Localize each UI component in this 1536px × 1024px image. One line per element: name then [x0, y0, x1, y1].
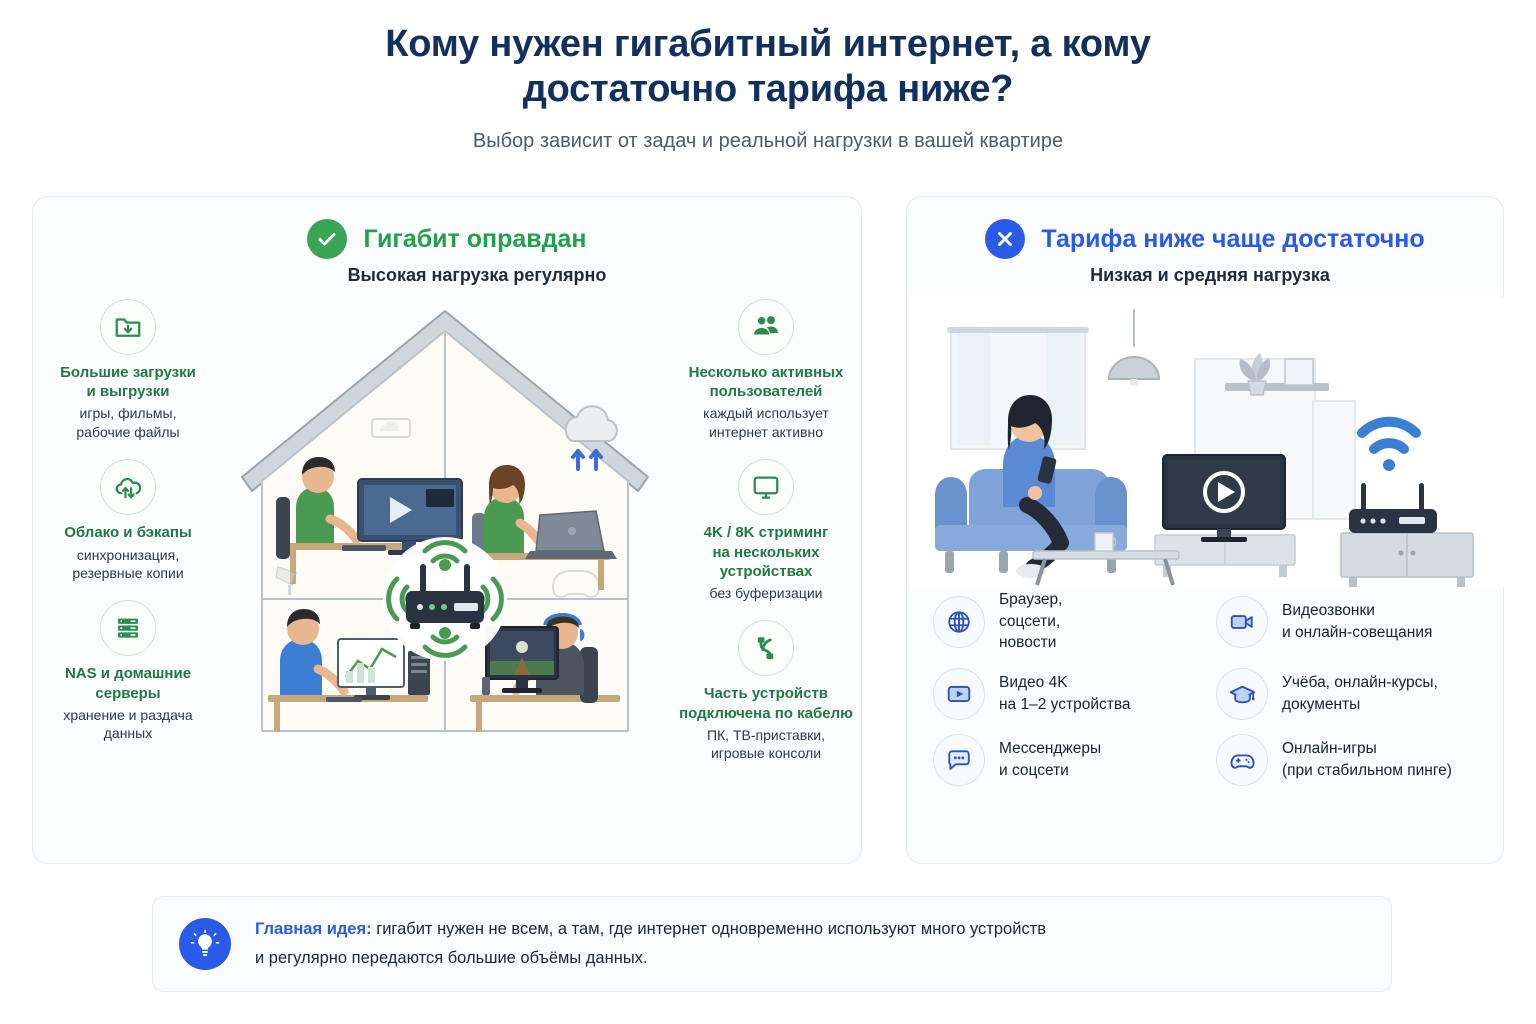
right-panel-header: Тарифа ниже чаще достаточно: [907, 197, 1503, 259]
feature-title: Несколько активных пользователей: [671, 363, 861, 401]
x-circle-icon: [985, 219, 1025, 259]
feature-desc: без буферизации: [671, 584, 861, 602]
house-illustration: [223, 293, 667, 863]
feature-cloud-backup: Облако и бэкапы синхронизация, резервные…: [33, 459, 223, 582]
page-subtitle: Выбор зависит от задач и реальной нагруз…: [0, 130, 1536, 153]
left-panel-subtitle: Высокая нагрузка регулярно: [93, 265, 861, 286]
panel-gigabit-justified: Гигабит оправдан Высокая нагрузка регуля…: [32, 196, 862, 864]
feature-title: NAS и домашние серверы: [33, 664, 223, 702]
feature-desc: синхронизация, резервные копии: [33, 546, 223, 583]
feature-large-downloads: Большие загрузки и выгрузки игры, фильмы…: [33, 299, 223, 441]
globe-icon: [933, 596, 985, 648]
monitor-icon: [738, 459, 794, 515]
key-idea-text: Главная идея: гигабит нужен не всем, а т…: [255, 915, 1046, 973]
users-group-icon: [738, 299, 794, 355]
feature-multiple-users: Несколько активных пользователей каждый …: [671, 299, 861, 441]
feature-desc: каждый использует интернет активно: [671, 404, 861, 441]
chat-bubble-icon: [933, 734, 985, 786]
left-panel-body: Большие загрузки и выгрузки игры, фильмы…: [33, 293, 861, 863]
panel-lower-tariff-enough: Тарифа ниже чаще достаточно Низкая и сре…: [906, 196, 1504, 864]
feature-title: Облако и бэкапы: [33, 523, 223, 542]
key-idea-line-1: гигабит нужен не всем, а там, где интерн…: [372, 920, 1046, 938]
infographic-page: Кому нужен гигабитный интернет, а кому д…: [0, 0, 1536, 1024]
feature-desc: ПК, ТВ-приставки, игровые консоли: [671, 726, 861, 763]
page-title: Кому нужен гигабитный интернет, а кому д…: [268, 22, 1268, 112]
check-circle-icon: [307, 219, 347, 259]
key-idea-footer: Главная идея: гигабит нужен не всем, а т…: [152, 896, 1392, 992]
feature-column-left: Большие загрузки и выгрузки игры, фильмы…: [33, 293, 223, 863]
feature-desc: хранение и раздача данных: [33, 706, 223, 743]
page-title-line-1: Кому нужен гигабитный интернет, а кому: [268, 22, 1268, 67]
page-header: Кому нужен гигабитный интернет, а кому д…: [0, 0, 1536, 153]
chip-video-4k: Видео 4K на 1–2 устройства: [933, 668, 1202, 720]
feature-title: Большие загрузки и выгрузки: [33, 363, 223, 401]
key-idea-line-2: и регулярно передаются большие объёмы да…: [255, 944, 1046, 973]
usage-chips-grid: Браузер, соцсети, новости Видеозвонки и …: [933, 589, 1485, 786]
left-panel-title: Гигабит оправдан: [363, 225, 586, 254]
chip-study-courses: Учёба, онлайн-курсы, документы: [1216, 668, 1485, 720]
router-center: [383, 537, 507, 661]
chip-label: Мессенджеры и соцсети: [999, 738, 1101, 781]
chip-label: Учёба, онлайн-курсы, документы: [1282, 672, 1438, 715]
feature-4k-8k-streaming: 4K / 8K стриминг на нескольких устройств…: [671, 459, 861, 602]
key-idea-accent: Главная идея:: [255, 920, 372, 938]
feature-desc: игры, фильмы, рабочие файлы: [33, 404, 223, 441]
folder-download-icon: [100, 299, 156, 355]
living-room-illustration: [907, 297, 1503, 587]
chip-messengers: Мессенджеры и соцсети: [933, 734, 1202, 786]
chip-browser-social-news: Браузер, соцсети, новости: [933, 589, 1202, 654]
feature-title: 4K / 8K стриминг на нескольких устройств…: [671, 523, 861, 581]
graduation-cap-icon: [1216, 668, 1268, 720]
video-call-icon: [1216, 596, 1268, 648]
feature-column-right: Несколько активных пользователей каждый …: [671, 293, 861, 863]
left-panel-header: Гигабит оправдан: [33, 197, 861, 259]
chip-label: Онлайн-игры (при стабильном пинге): [1282, 738, 1452, 781]
chip-label: Браузер, соцсети, новости: [999, 589, 1062, 654]
gamepad-icon: [1216, 734, 1268, 786]
lightbulb-icon: [179, 918, 231, 970]
ethernet-cable-icon: [738, 620, 794, 676]
page-title-line-2: достаточно тарифа ниже?: [268, 67, 1268, 112]
chip-video-calls: Видеозвонки и онлайн-совещания: [1216, 589, 1485, 654]
chip-label: Видео 4K на 1–2 устройства: [999, 672, 1131, 715]
panels-row: Гигабит оправдан Высокая нагрузка регуля…: [32, 196, 1504, 864]
right-panel-subtitle: Низкая и средняя нагрузка: [917, 265, 1503, 286]
right-panel-title: Тарифа ниже чаще достаточно: [1041, 225, 1424, 254]
video-play-icon: [933, 668, 985, 720]
feature-nas-home-servers: NAS и домашние серверы хранение и раздач…: [33, 600, 223, 742]
chip-online-games: Онлайн-игры (при стабильном пинге): [1216, 734, 1485, 786]
feature-title: Часть устройств подключена по кабелю: [671, 684, 861, 722]
feature-wired-devices: Часть устройств подключена по кабелю ПК,…: [671, 620, 861, 762]
chip-label: Видеозвонки и онлайн-совещания: [1282, 600, 1432, 643]
server-rack-icon: [100, 600, 156, 656]
cloud-sync-icon: [100, 459, 156, 515]
